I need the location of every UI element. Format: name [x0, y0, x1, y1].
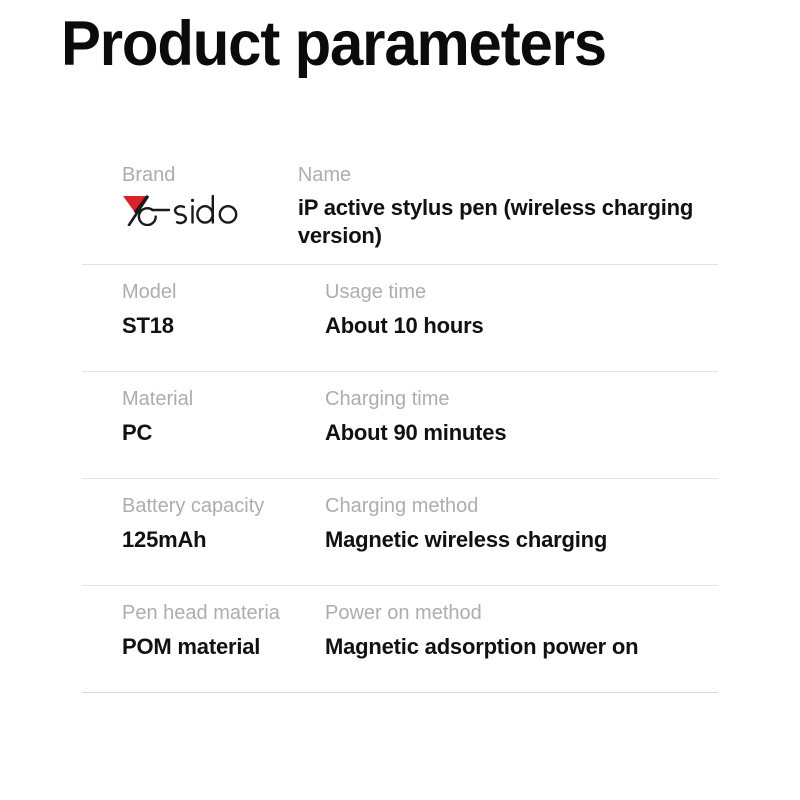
spec-cell-charging-method: Charging method Magnetic wireless chargi…: [325, 479, 718, 585]
spec-value-name: iP active stylus pen (wireless charging …: [298, 194, 718, 250]
spec-label-name: Name: [298, 162, 718, 188]
spec-cell-power-on-method: Power on method Magnetic adsorption powe…: [325, 586, 718, 692]
spec-cell-usage-time: Usage time About 10 hours: [325, 265, 718, 371]
spec-label-pen-head-material: Pen head materia: [122, 600, 325, 626]
spec-value-power-on-method: Magnetic adsorption power on: [325, 632, 718, 662]
spec-label-power-on-method: Power on method: [325, 600, 718, 626]
spec-cell-battery-capacity: Battery capacity 125mAh: [82, 479, 325, 585]
table-row: Pen head materia POM material Power on m…: [82, 586, 718, 693]
spec-label-charging-time: Charging time: [325, 386, 718, 412]
spec-cell-model: Model ST18: [82, 265, 325, 371]
yesido-logo-icon: [122, 192, 298, 226]
spec-label-battery-capacity: Battery capacity: [122, 493, 325, 519]
table-row: Model ST18 Usage time About 10 hours: [82, 265, 718, 372]
table-row: Brand: [82, 148, 718, 265]
spec-value-pen-head-material: POM material: [122, 632, 325, 662]
spec-cell-brand: Brand: [82, 148, 298, 240]
spec-label-brand: Brand: [122, 162, 298, 188]
spec-value-charging-time: About 90 minutes: [325, 418, 718, 448]
spec-cell-name: Name iP active stylus pen (wireless char…: [298, 148, 718, 264]
spec-value-battery-capacity: 125mAh: [122, 525, 325, 555]
spec-value-material: PC: [122, 418, 325, 448]
spec-value-charging-method: Magnetic wireless charging: [325, 525, 718, 555]
spec-label-charging-method: Charging method: [325, 493, 718, 519]
table-row: Battery capacity 125mAh Charging method …: [82, 479, 718, 586]
specifications-table: Brand: [82, 148, 718, 693]
table-row: Material PC Charging time About 90 minut…: [82, 372, 718, 479]
spec-cell-charging-time: Charging time About 90 minutes: [325, 372, 718, 478]
spec-cell-material: Material PC: [82, 372, 325, 478]
product-parameters-page: Product parameters Brand: [0, 0, 800, 800]
spec-value-usage-time: About 10 hours: [325, 311, 718, 341]
spec-value-model: ST18: [122, 311, 325, 341]
page-title: Product parameters: [61, 2, 606, 86]
spec-label-material: Material: [122, 386, 325, 412]
spec-label-usage-time: Usage time: [325, 279, 718, 305]
spec-cell-pen-head-material: Pen head materia POM material: [82, 586, 325, 692]
spec-label-model: Model: [122, 279, 325, 305]
